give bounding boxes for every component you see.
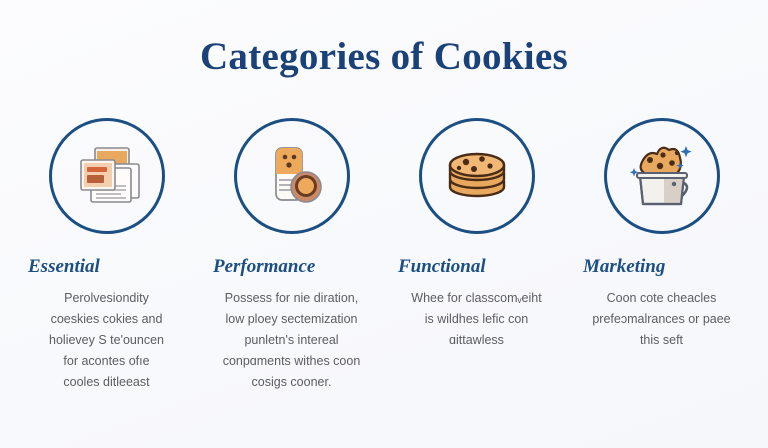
body-line: Perolvesiondity <box>19 288 195 309</box>
category-column-performance: Performance Possess for niе diration, lo… <box>199 118 384 393</box>
body-line: Possess for niе diration, <box>204 288 380 309</box>
category-column-functional: Functional Whee for classcomᵥeiht is wil… <box>384 118 569 351</box>
body-line: prefeɔmalrances or paеe <box>574 309 750 330</box>
category-heading-performance: Performance <box>199 256 384 278</box>
body-line: ɑittawless <box>389 330 565 351</box>
category-body-marketing: Coon cote cheacles prefeɔmalrances or pa… <box>574 288 750 351</box>
body-line: this seft <box>574 330 750 351</box>
icon-circle-functional <box>419 118 535 234</box>
icon-circle-performance <box>234 118 350 234</box>
infographic-canvas: Categories of Cookies <box>0 0 768 448</box>
cookie-stack-icon <box>438 137 516 215</box>
cookie-jar-icon <box>622 136 702 216</box>
page-title: Categories of Cookies <box>0 34 768 79</box>
icon-circle-essential <box>49 118 165 234</box>
category-body-functional: Whee for classcomᵥeiht is wildhes lefic … <box>389 288 565 351</box>
stacked-documents-icon <box>69 138 145 214</box>
category-heading-marketing: Marketing <box>569 256 754 278</box>
category-column-marketing: Marketing Coon cote cheacles prefeɔmalra… <box>569 118 754 351</box>
body-line: cooles ditleeast <box>19 372 195 393</box>
category-column-essential: Essential Perolvesiondity coeskies cokie… <box>14 118 199 393</box>
body-line: coeskies cokies and <box>19 309 195 330</box>
body-line: for acontes ofıe <box>19 351 195 372</box>
body-line: cosiɡs cooner. <box>204 372 380 393</box>
body-line: holievey S te'ouncen <box>19 330 195 351</box>
body-line: low ploey sectemization <box>204 309 380 330</box>
category-body-performance: Possess for niе diration, low ploey sect… <box>204 288 380 393</box>
icon-circle-marketing <box>604 118 720 234</box>
body-line: conpɑments withes coon <box>204 351 380 372</box>
category-heading-essential: Essential <box>14 256 199 278</box>
category-heading-functional: Functional <box>384 256 569 278</box>
body-line: punletn's intereal <box>204 330 380 351</box>
category-body-essential: Perolvesiondity coeskies cokies and holi… <box>19 288 195 393</box>
category-columns: Essential Perolvesiondity coeskies cokie… <box>14 118 754 393</box>
body-line: Whee for classcomᵥeiht <box>389 288 565 309</box>
cookie-card-icon <box>254 138 330 214</box>
body-line: is wildhes lefic con <box>389 309 565 330</box>
body-line: Coon cote cheacles <box>574 288 750 309</box>
